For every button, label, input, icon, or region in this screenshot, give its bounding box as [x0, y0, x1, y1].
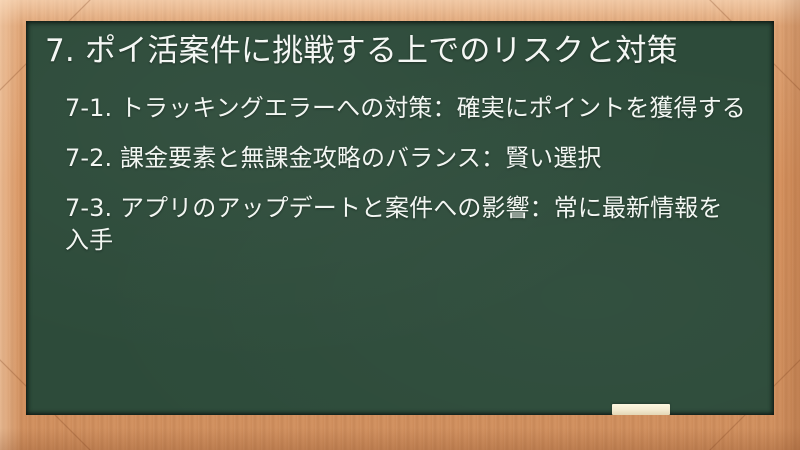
list-item-7-1: 7-1. トラッキングエラーへの対策：確実にポイントを獲得する — [65, 93, 746, 125]
frame-bottom-shadow — [0, 428, 800, 450]
chalkboard-slide: 7. ポイ活案件に挑戦する上でのリスクと対策 7-1. トラッキングエラーへの対… — [0, 0, 800, 450]
chalkboard-surface: 7. ポイ活案件に挑戦する上でのリスクと対策 7-1. トラッキングエラーへの対… — [26, 21, 774, 415]
frame-left-highlight — [0, 0, 22, 450]
list-item-7-2: 7-2. 課金要素と無課金攻略のバランス：賢い選択 — [65, 143, 746, 175]
topic-list: 7-1. トラッキングエラーへの対策：確実にポイントを獲得する 7-2. 課金要… — [37, 93, 756, 257]
slide-title: 7. ポイ活案件に挑戦する上でのリスクと対策 — [37, 31, 756, 71]
frame-right-shadow — [776, 0, 800, 450]
chalk-stick-icon — [612, 404, 670, 415]
list-item-7-3: 7-3. アプリのアップデートと案件への影響：常に最新情報を入手 — [65, 193, 746, 257]
chalkboard-content: 7. ポイ活案件に挑戦する上でのリスクと対策 7-1. トラッキングエラーへの対… — [26, 21, 774, 415]
